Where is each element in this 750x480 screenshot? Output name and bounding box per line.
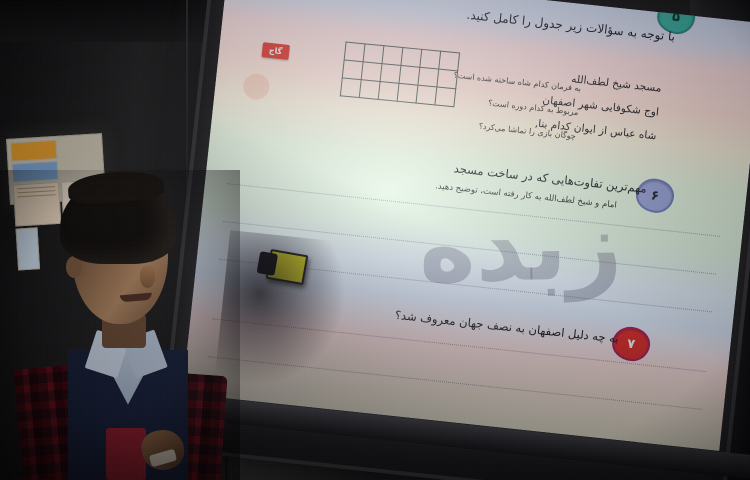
student-boy [10,178,225,480]
nose [140,266,155,288]
poster-block-orange [10,140,57,162]
whiteboard-eraser[interactable] [266,249,309,285]
sweater-panel [106,428,146,480]
projected-worksheet: گاج ۵ با توجه به سؤالات زیر جدول را کامل… [182,0,750,451]
page-vignette [182,0,750,451]
hair [60,178,176,264]
classroom-scene: گاج ۵ با توجه به سؤالات زیر جدول را کامل… [0,0,750,480]
